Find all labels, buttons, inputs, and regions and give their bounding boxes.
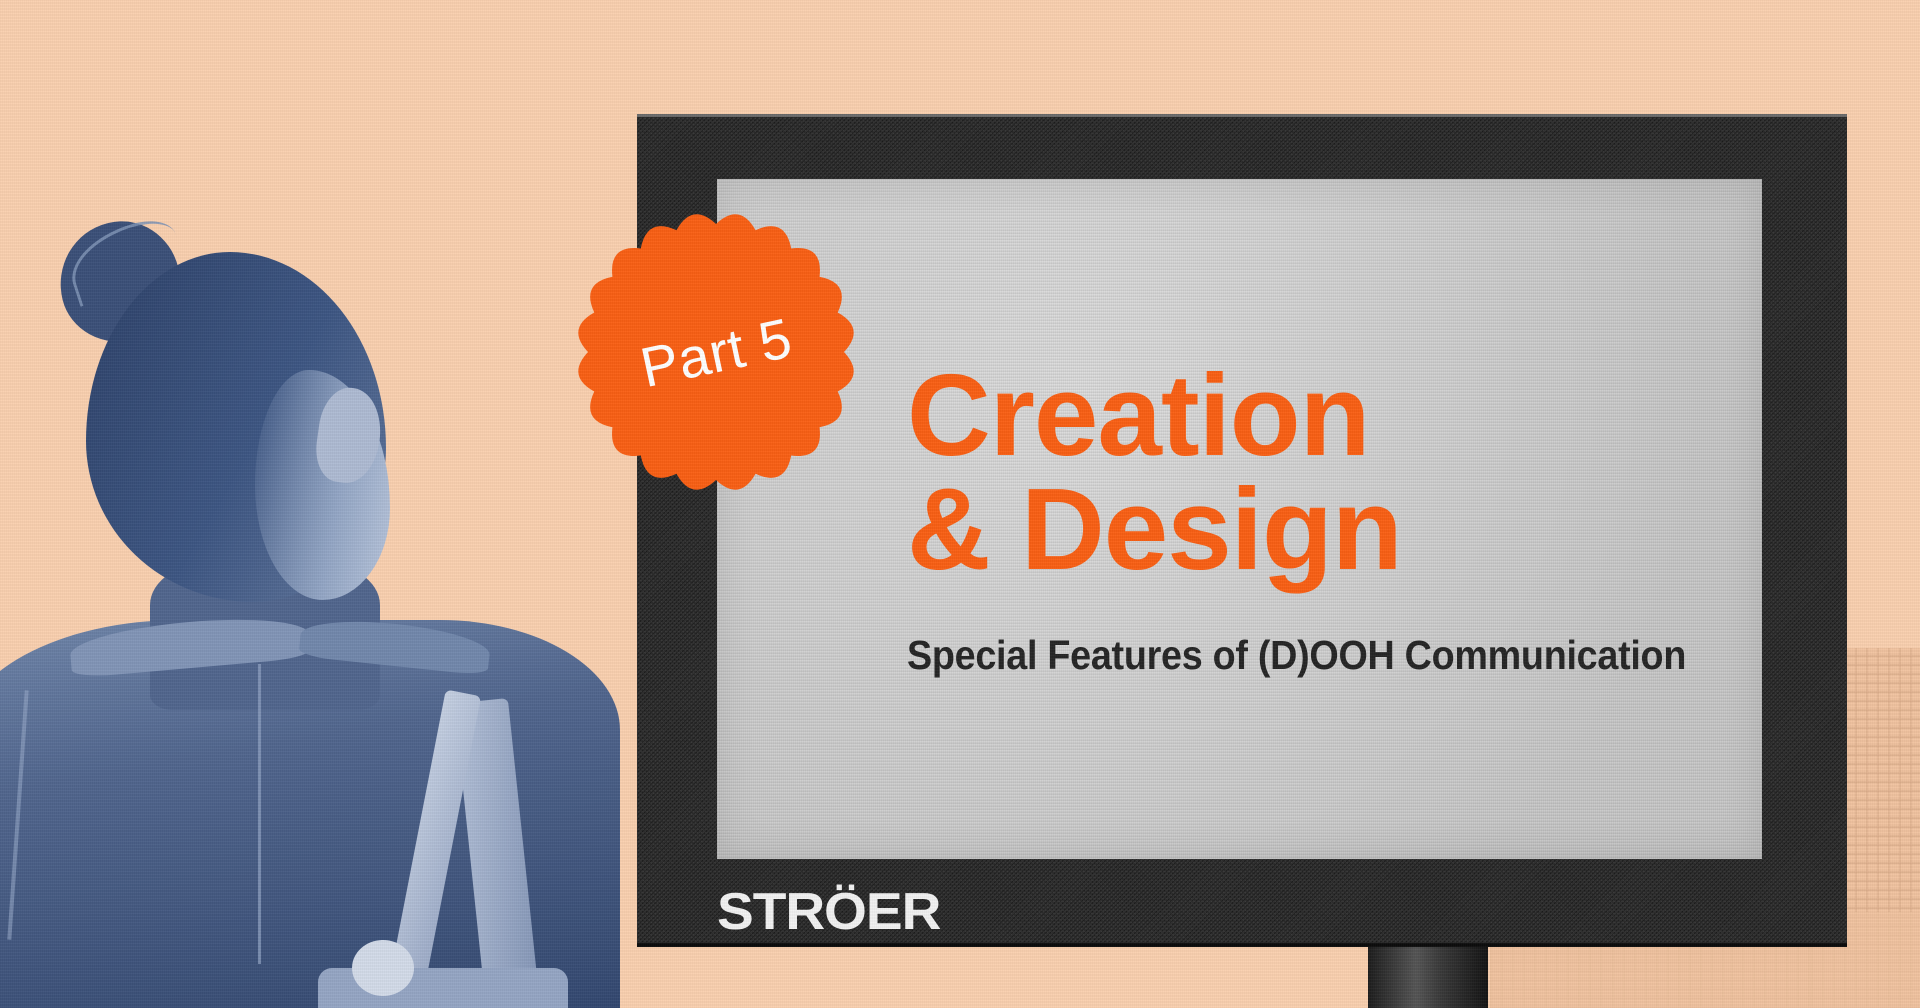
subtitle: Special Features of (D)OOH Communication [907, 632, 1694, 679]
bag-clip [352, 940, 414, 996]
billboard-support-pole [1368, 940, 1488, 1008]
jacket-center-seam [258, 664, 261, 964]
headline-line-1: Creation [907, 350, 1370, 480]
part-badge-label: Part 5 [526, 162, 906, 542]
person-figure-duotone [0, 0, 620, 1008]
poster-canvas: Creation & Design Special Features of (D… [0, 0, 1920, 1008]
headline: Creation & Design [907, 359, 1762, 586]
part-badge[interactable]: Part 5 [556, 192, 876, 512]
headline-line-2: & Design [907, 473, 1762, 587]
stroeer-logo: STRÖER [717, 882, 940, 942]
